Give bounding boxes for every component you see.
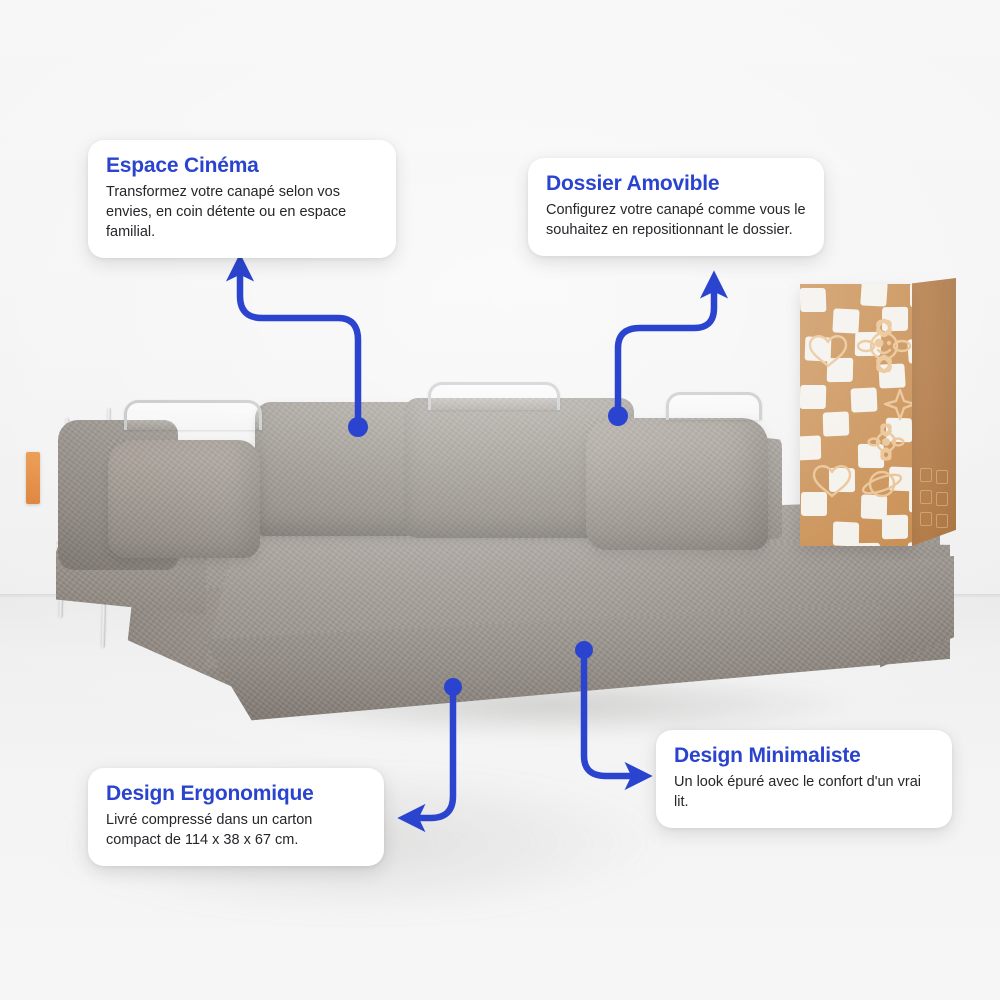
planet-icon (861, 471, 903, 497)
flower-icon (869, 423, 904, 461)
callout-card-design-ergonomique[interactable]: Design Ergonomique Livré compressé dans … (88, 768, 384, 866)
carton-label-slots (920, 468, 950, 540)
left-arm-bolster (108, 440, 260, 558)
heart-icon (810, 336, 846, 366)
callout-title: Design Minimaliste (674, 744, 934, 768)
callout-card-dossier-amovible[interactable]: Dossier Amovible Configurez votre canapé… (528, 158, 824, 256)
callout-body: Un look épuré avec le confort d'un vrai … (674, 772, 934, 812)
right-arm-bolster (586, 418, 768, 550)
callout-card-design-minimaliste[interactable]: Design Minimaliste Un look épuré avec le… (656, 730, 952, 828)
callout-body: Livré compressé dans un carton compact d… (106, 810, 366, 850)
shipping-carton (800, 278, 956, 550)
star-icon (885, 390, 912, 419)
chrome-handle-left (124, 400, 262, 430)
chrome-handle-right (666, 392, 762, 420)
chrome-handle-center (428, 382, 560, 410)
callout-card-espace-cinema[interactable]: Espace Cinéma Transformez votre canapé s… (88, 140, 396, 258)
callout-body: Configurez votre canapé comme vous le so… (546, 200, 806, 240)
callout-body: Transformez votre canapé selon vos envie… (106, 182, 378, 242)
callout-title: Dossier Amovible (546, 172, 806, 196)
flower-smiley-icon (858, 318, 910, 373)
brand-tag (26, 452, 40, 504)
carton-front-panel (800, 284, 912, 546)
heart-icon-lower (814, 466, 850, 496)
callout-title: Espace Cinéma (106, 154, 378, 178)
callout-title: Design Ergonomique (106, 782, 366, 806)
product-infographic: Espace Cinéma Transformez votre canapé s… (0, 0, 1000, 1000)
